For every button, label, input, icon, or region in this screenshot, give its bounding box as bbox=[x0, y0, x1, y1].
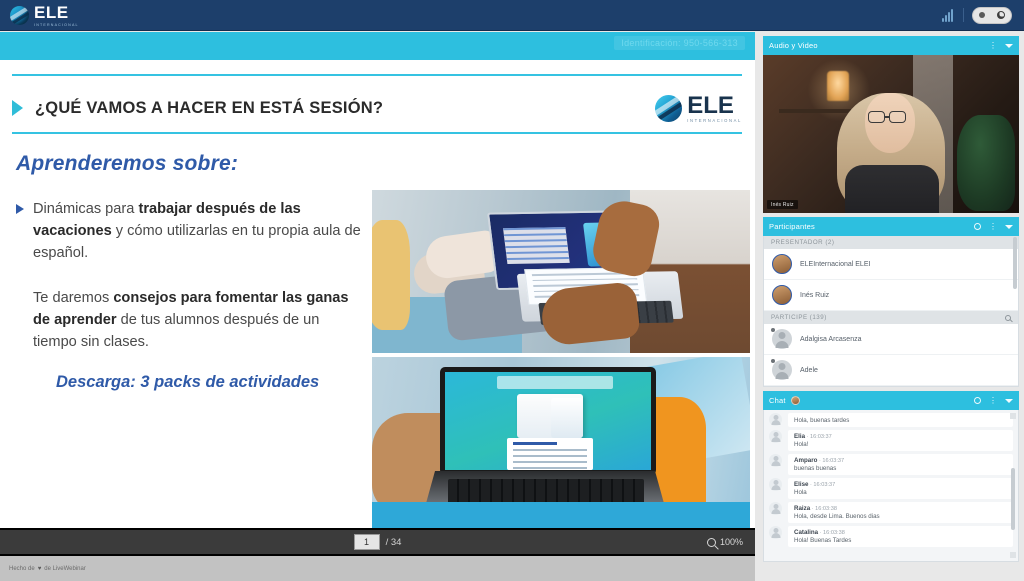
chat-text: Hola, desde Lima. Buenos dias bbox=[794, 513, 1007, 520]
avatar bbox=[769, 454, 782, 467]
list-item[interactable]: Adele bbox=[764, 355, 1018, 386]
brand-subtitle: INTERNACIONAL bbox=[34, 23, 79, 27]
slide-title-rule bbox=[12, 132, 742, 134]
list-item: Elise · 16:03:37 Hola bbox=[769, 478, 1013, 499]
triangle-bullet-icon bbox=[16, 204, 24, 214]
gear-icon[interactable] bbox=[974, 397, 981, 404]
chat-text: Hola! Buenas Tardes bbox=[794, 537, 1007, 544]
chat-time: · 16:03:37 bbox=[810, 482, 835, 488]
presenters-header-label: PRESENTADOR (2) bbox=[771, 239, 834, 246]
brand-logo[interactable]: ELE INTERNACIONAL bbox=[0, 4, 79, 27]
chat-scrollbar[interactable] bbox=[1011, 468, 1015, 530]
participants-panel-title: Participantes bbox=[769, 222, 815, 231]
page-total-label: / 34 bbox=[386, 537, 402, 548]
chat-text: Hola bbox=[794, 489, 1007, 496]
slide-download-line: Descarga: 3 packs de actividades bbox=[56, 373, 366, 392]
chat-panel-title: Chat bbox=[769, 396, 786, 405]
slide-logo-sub: INTERNACIONAL bbox=[687, 118, 742, 123]
chat-time: · 16:03:37 bbox=[819, 458, 844, 464]
avatar bbox=[772, 329, 792, 349]
slide-header-bar: Identificación: 950-566-313 bbox=[0, 32, 755, 60]
slide-toolbar: 1 / 34 100% bbox=[0, 528, 755, 556]
participants-list[interactable]: PRESENTADOR (2) ELEInternacional ELEI In… bbox=[763, 236, 1019, 387]
chat-author: Elia bbox=[794, 433, 805, 440]
list-item[interactable]: ELEInternacional ELEI bbox=[764, 249, 1018, 280]
right-sidebar: Audio y Video ⋮ bbox=[763, 36, 1019, 566]
participants-panel-header[interactable]: Participantes ⋮ bbox=[763, 217, 1019, 236]
participant-name: Adalgisa Arcasenza bbox=[800, 336, 861, 343]
made-by-pre: Hecho de bbox=[9, 566, 35, 572]
list-item[interactable]: Inés Ruiz bbox=[764, 280, 1018, 311]
triangle-bullet-icon bbox=[12, 100, 23, 116]
chat-text: buenas buenas bbox=[794, 465, 1007, 472]
presentation-stage: Identificación: 950-566-313 ¿QUÉ VAMOS A… bbox=[0, 32, 755, 528]
moon-icon bbox=[997, 11, 1005, 19]
chat-panel-header[interactable]: Chat ⋮ bbox=[763, 391, 1019, 410]
participant-name: Adele bbox=[800, 367, 818, 374]
top-bar-actions bbox=[942, 7, 1024, 24]
chat-author: Raiza bbox=[794, 505, 810, 512]
slide-body-text: Aprenderemos sobre: Dinámicas para traba… bbox=[16, 152, 366, 392]
search-icon[interactable] bbox=[1005, 315, 1011, 321]
livewebinar-app: ELE INTERNACIONAL Identificación: 950-56… bbox=[0, 0, 1024, 581]
slide-paragraph-2: Te daremos consejos para fomentar las ga… bbox=[33, 287, 366, 354]
chevron-down-icon[interactable] bbox=[1005, 399, 1013, 403]
brand-name: ELE bbox=[34, 3, 69, 22]
made-by-footer: Hecho de ♥ de LiveWebinar bbox=[0, 556, 755, 581]
chat-scroll-down[interactable] bbox=[1010, 552, 1016, 558]
glasses-icon bbox=[868, 111, 885, 123]
avatar bbox=[769, 526, 782, 539]
chat-panel: Chat ⋮ Hola, buenas tardes bbox=[763, 391, 1019, 562]
list-item: Catalina · 16:03:38 Hola! Buenas Tardes bbox=[769, 526, 1013, 547]
slide-title-row: ¿QUÉ VAMOS A HACER EN ESTÁ SESIÓN? ELE I… bbox=[12, 86, 742, 130]
list-item[interactable]: Adalgisa Arcasenza bbox=[764, 324, 1018, 355]
zoom-control[interactable]: 100% bbox=[707, 537, 743, 547]
list-item: Hola, buenas tardes bbox=[769, 413, 1013, 427]
top-bar: ELE INTERNACIONAL bbox=[0, 0, 1024, 31]
globe-icon bbox=[655, 95, 682, 122]
slide-lead-heading: Aprenderemos sobre: bbox=[16, 152, 366, 176]
presenters-section-header: PRESENTADOR (2) bbox=[764, 236, 1018, 249]
zoom-level-label: 100% bbox=[720, 537, 743, 547]
participants-panel: Participantes ⋮ PRESENTADOR (2) ELEInter… bbox=[763, 217, 1019, 387]
user-avatar-icon bbox=[791, 396, 800, 405]
slide-canvas[interactable]: ¿QUÉ VAMOS A HACER EN ESTÁ SESIÓN? ELE I… bbox=[0, 60, 755, 528]
chat-author: Catalina bbox=[794, 529, 818, 536]
bullet-1-pre: Dinámicas para bbox=[33, 201, 138, 217]
day-night-toggle[interactable] bbox=[972, 7, 1012, 24]
chevron-down-icon[interactable] bbox=[1005, 44, 1013, 48]
para-2-pre: Te daremos bbox=[33, 290, 113, 306]
attendees-section-header: PARTICIPE (139) bbox=[764, 311, 1018, 324]
attendees-header-label: PARTICIPE (139) bbox=[771, 314, 827, 321]
participant-name: ELEInternacional ELEI bbox=[800, 261, 870, 268]
audio-video-panel-header[interactable]: Audio y Video ⋮ bbox=[763, 36, 1019, 55]
avatar bbox=[772, 254, 792, 274]
chat-author: Elise bbox=[794, 481, 808, 488]
chat-messages[interactable]: Hola, buenas tardes Elia · 16:03:37 Hola… bbox=[763, 410, 1019, 562]
avatar bbox=[769, 430, 782, 443]
participant-name: Inés Ruiz bbox=[800, 292, 829, 299]
avatar bbox=[772, 285, 792, 305]
list-item: Raiza · 16:03:38 Hola, desde Lima. Bueno… bbox=[769, 502, 1013, 523]
video-name-tag: Inés Ruiz bbox=[767, 200, 798, 209]
chat-text: Hola! bbox=[794, 441, 1007, 448]
gear-icon[interactable] bbox=[974, 223, 981, 230]
magnifier-icon bbox=[707, 538, 716, 547]
slide-bullet-1: Dinámicas para trabajar después de las v… bbox=[16, 198, 366, 265]
audio-video-panel-title: Audio y Video bbox=[769, 41, 818, 50]
more-options-icon[interactable]: ⋮ bbox=[989, 223, 997, 230]
globe-icon bbox=[10, 6, 29, 25]
avatar bbox=[769, 478, 782, 491]
more-options-icon[interactable]: ⋮ bbox=[989, 397, 997, 404]
avatar bbox=[769, 413, 782, 426]
chat-text: Hola, buenas tardes bbox=[794, 417, 1007, 424]
photo-laptop-lap bbox=[372, 190, 750, 353]
avatar bbox=[769, 502, 782, 515]
chat-author: Amparo bbox=[794, 457, 817, 464]
list-item: Elia · 16:03:37 Hola! bbox=[769, 430, 1013, 451]
slide-brand-logo: ELE INTERNACIONAL bbox=[655, 94, 742, 123]
divider bbox=[963, 8, 964, 22]
slide-logo-text: ELE bbox=[687, 92, 734, 119]
wifi-icon[interactable] bbox=[942, 8, 955, 22]
slide-photos bbox=[372, 190, 750, 528]
chat-time: · 16:03:38 bbox=[812, 506, 837, 512]
sun-icon bbox=[979, 12, 985, 18]
chat-scroll-up[interactable] bbox=[1010, 413, 1016, 419]
more-options-icon[interactable]: ⋮ bbox=[989, 42, 997, 49]
made-by-post: de LiveWebinar bbox=[44, 566, 86, 572]
participants-scrollbar[interactable] bbox=[1013, 237, 1017, 289]
chat-time: · 16:03:38 bbox=[820, 530, 845, 536]
audio-video-panel: Audio y Video ⋮ bbox=[763, 36, 1019, 213]
video-tile[interactable]: Inés Ruiz bbox=[763, 55, 1019, 213]
avatar bbox=[772, 360, 792, 380]
chat-time: · 16:03:37 bbox=[807, 434, 832, 440]
slide-title: ¿QUÉ VAMOS A HACER EN ESTÁ SESIÓN? bbox=[35, 99, 383, 118]
page-number-input[interactable]: 1 bbox=[354, 534, 380, 550]
chevron-down-icon[interactable] bbox=[1005, 225, 1013, 229]
slide-top-rule bbox=[12, 74, 742, 76]
photo-laptop-hands bbox=[372, 357, 750, 528]
heart-icon: ♥ bbox=[38, 566, 42, 572]
identification-label: Identificación: 950-566-313 bbox=[614, 36, 745, 50]
list-item: Amparo · 16:03:37 buenas buenas bbox=[769, 454, 1013, 475]
